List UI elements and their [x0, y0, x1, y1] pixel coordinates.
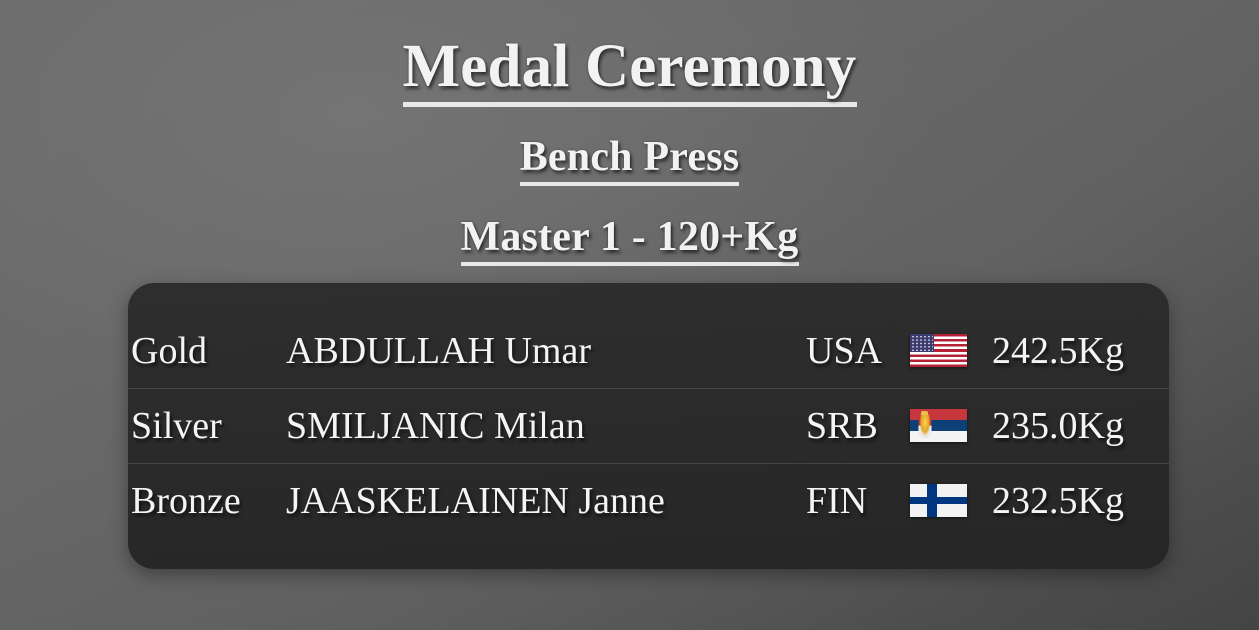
- result-weight: 232.5Kg: [992, 479, 1124, 523]
- finland-cross-horizontal: [910, 497, 967, 504]
- medal-label: Bronze: [128, 479, 286, 523]
- table-row: Gold ABDULLAH Umar USA 242.5Kg: [128, 313, 1169, 388]
- flag-cell: [910, 409, 992, 442]
- page-title-text: Medal Ceremony: [403, 34, 857, 107]
- flag-finland-icon: [910, 484, 967, 517]
- table-row: Silver SMILJANIC Milan SRB 235.0Kg: [128, 388, 1169, 463]
- results-panel: Gold ABDULLAH Umar USA 242.5Kg Silver SM…: [128, 283, 1169, 569]
- flag-cell: [910, 484, 992, 517]
- country-code: SRB: [806, 404, 910, 448]
- medal-ceremony-slide: Medal Ceremony Bench Press Master 1 - 12…: [0, 0, 1259, 630]
- medal-label: Gold: [128, 329, 286, 373]
- finland-cross-vertical: [927, 484, 937, 517]
- country-code: FIN: [806, 479, 910, 523]
- category-name: Master 1 - 120+Kg: [0, 214, 1259, 266]
- result-weight: 242.5Kg: [992, 329, 1124, 373]
- result-weight: 235.0Kg: [992, 404, 1124, 448]
- flag-cell: [910, 334, 992, 367]
- table-row: Bronze JAASKELAINEN Janne FIN 232.5Kg: [128, 463, 1169, 538]
- flag-serbia-icon: [910, 409, 967, 442]
- serbia-coat-of-arms: [918, 414, 931, 438]
- usa-canton: [910, 334, 934, 352]
- country-code: USA: [806, 329, 910, 373]
- flag-usa-icon: [910, 334, 967, 367]
- event-name: Bench Press: [0, 134, 1259, 186]
- page-title: Medal Ceremony: [0, 34, 1259, 107]
- athlete-name: ABDULLAH Umar: [286, 329, 806, 373]
- usa-stars: [911, 335, 933, 351]
- athlete-name: JAASKELAINEN Janne: [286, 479, 806, 523]
- medal-label: Silver: [128, 404, 286, 448]
- serbia-crown: [921, 411, 928, 415]
- category-name-text: Master 1 - 120+Kg: [461, 214, 799, 266]
- event-name-text: Bench Press: [520, 134, 740, 186]
- athlete-name: SMILJANIC Milan: [286, 404, 806, 448]
